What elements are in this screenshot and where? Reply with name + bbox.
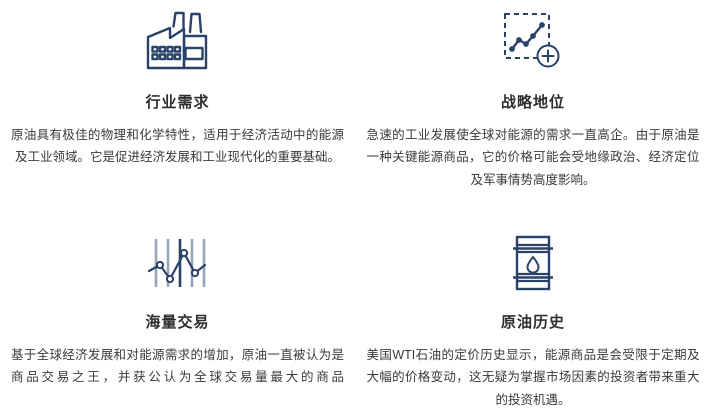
feature-card-strategic-position[interactable]: 战略地位 急速的工业发展使全球对能源的需求一直高企。由于原油是一种关键能源商品，… (355, 0, 711, 207)
chart-add-icon (502, 5, 564, 77)
feature-description: 急速的工业发展使全球对能源的需求一直高企。由于原油是一种关键能源商品，它的价格可… (363, 124, 704, 191)
features-grid: 行业需求 原油具有极佳的物理和化学特性，适用于经济活动中的能源及工业领域。它是促… (0, 0, 711, 414)
feature-card-industry-demand[interactable]: 行业需求 原油具有极佳的物理和化学特性，适用于经济活动中的能源及工业领域。它是促… (0, 0, 355, 207)
feature-card-massive-trading[interactable]: 海量交易 基于全球经济发展和对能源需求的增加，原油一直被认为是商品交易之王，并获… (0, 207, 355, 414)
trading-volume-icon (147, 227, 209, 299)
factory-icon (144, 5, 212, 77)
feature-description: 基于全球经济发展和对能源需求的增加，原油一直被认为是商品交易之王，并获公认为全球… (7, 344, 348, 389)
feature-title: 战略地位 (501, 95, 565, 110)
feature-description: 美国WTI石油的定价历史显示，能源商品是会受限于定期及大幅的价格变动，这无疑为掌… (363, 344, 704, 411)
feature-card-crude-oil-history[interactable]: 原油历史 美国WTI石油的定价历史显示，能源商品是会受限于定期及大幅的价格变动，… (355, 207, 711, 414)
oil-barrel-icon (511, 227, 555, 299)
feature-title: 海量交易 (145, 315, 209, 330)
feature-title: 行业需求 (145, 95, 209, 110)
feature-description: 原油具有极佳的物理和化学特性，适用于经济活动中的能源及工业领域。它是促进经济发展… (7, 124, 348, 169)
feature-title: 原油历史 (501, 315, 565, 330)
